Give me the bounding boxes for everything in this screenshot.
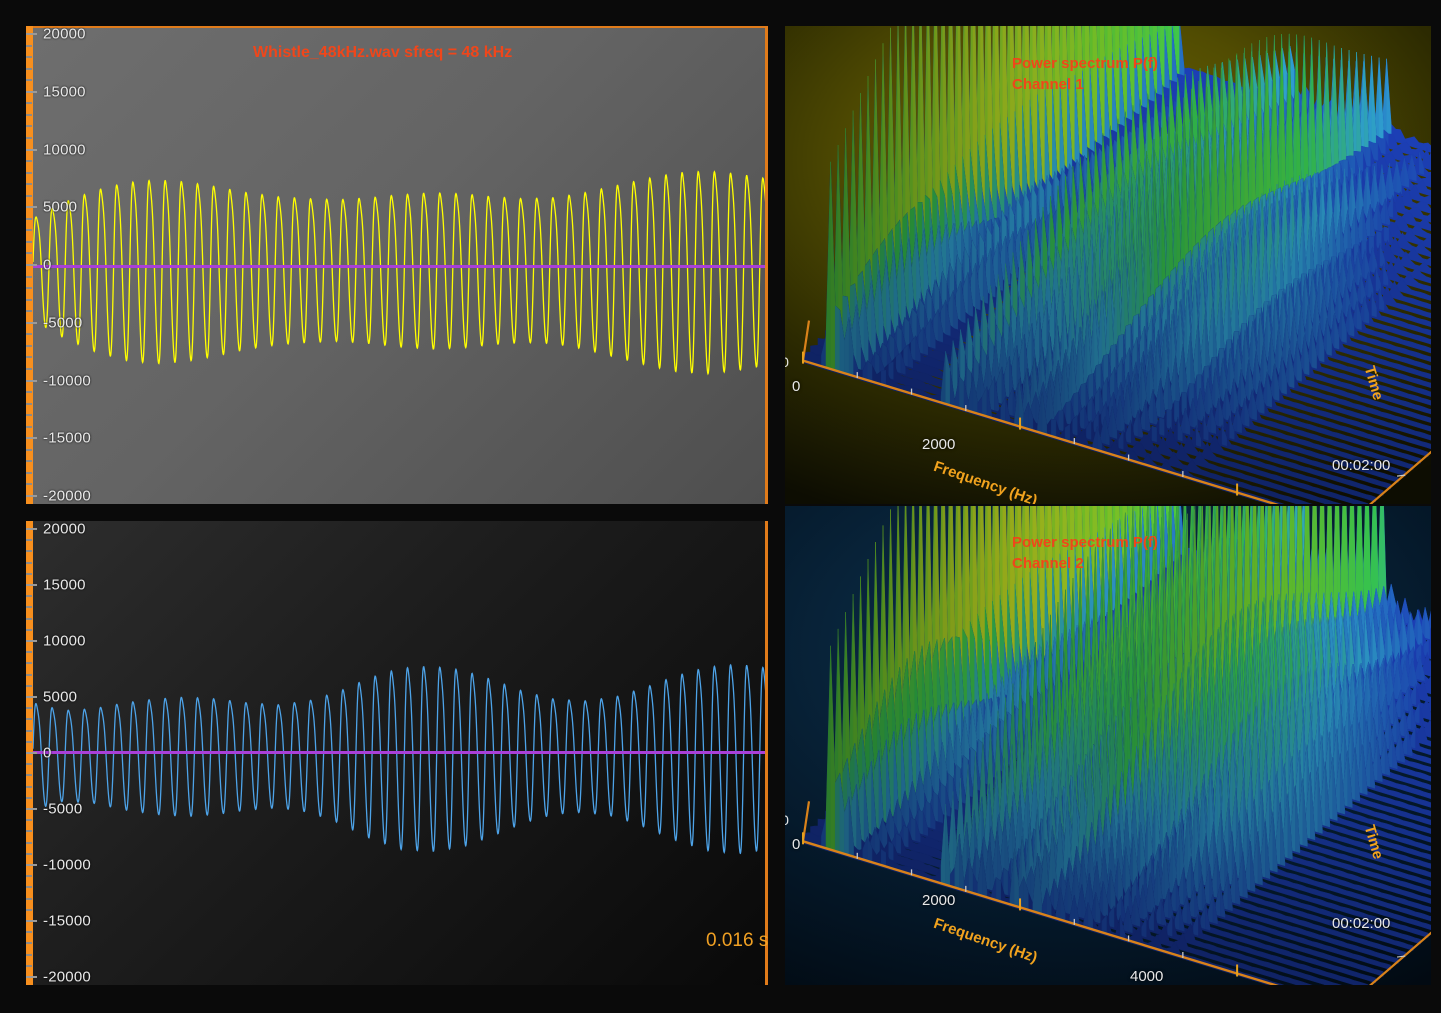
y-tick-minor	[26, 483, 32, 485]
y-tick-minor	[26, 662, 32, 664]
y-tick-minor	[26, 595, 32, 597]
spectrum-title-line2-channel-1: Channel 1	[1012, 74, 1158, 95]
x-tick-4000-channel-2: 4000	[1130, 968, 1163, 985]
y-tick-minor	[26, 763, 32, 765]
y-tick-minor	[26, 954, 32, 956]
y-tick-label: 15000	[43, 83, 86, 100]
y-tick-minor	[26, 137, 32, 139]
y-tick-minor	[26, 898, 32, 900]
y-tick-time-channel-2: 00:02:00	[1332, 915, 1390, 932]
y-tick-minor	[26, 287, 32, 289]
y-tick-minor	[26, 172, 32, 174]
y-tick-minor	[26, 333, 32, 335]
y-tick-label: -20000	[43, 488, 91, 505]
y-tick-minor	[26, 68, 32, 70]
x-tick-2000-channel-1: 2000	[922, 436, 955, 453]
y-tick-minor	[26, 707, 32, 709]
x-tick-0-channel-2: 0	[792, 836, 800, 853]
y-tick-label: 5000	[43, 689, 77, 706]
y-tick-minor	[26, 886, 32, 888]
y-tick-label: 10000	[43, 141, 86, 158]
y-tick-minor	[26, 125, 32, 127]
y-tick-minor	[26, 741, 32, 743]
y-tick-minor	[26, 403, 32, 405]
y-tick-minor	[26, 830, 32, 832]
spectrum-panel-channel-2[interactable]: Power spectrum P(f) Channel 2 +0 0 2000 …	[785, 506, 1431, 985]
y-tick-minor	[26, 195, 32, 197]
y-tick-minor	[26, 102, 32, 104]
waveform-title-channel-1: Whistle_48kHz.wav sfreq = 48 kHz	[253, 44, 512, 62]
y-tick-label: 10000	[43, 633, 86, 650]
y-tick-minor	[26, 345, 32, 347]
time-readout-channel-2: 0.016 s	[706, 930, 768, 952]
y-tick-minor	[26, 252, 32, 254]
y-tick-minor	[26, 310, 32, 312]
y-tick-minor	[26, 229, 32, 231]
y-tick-label: -10000	[43, 857, 91, 874]
spectrum-title-line1-channel-2: Power spectrum P(f)	[1012, 532, 1158, 553]
y-tick-minor	[26, 79, 32, 81]
y-tick-label: -5000	[43, 314, 82, 331]
y-tick-major	[26, 149, 37, 151]
y-tick-label: 20000	[43, 26, 86, 43]
spectrum-title-line1-channel-1: Power spectrum P(f)	[1012, 53, 1158, 74]
y-tick-minor	[26, 550, 32, 552]
y-tick-major	[26, 380, 37, 382]
y-tick-minor	[26, 651, 32, 653]
y-axis-ticks-channel-2: 20000150001000050000-5000-10000-15000-20…	[26, 521, 146, 985]
y-tick-major	[26, 696, 37, 698]
y-tick-label: 5000	[43, 199, 77, 216]
cursor-line-channel-1[interactable]	[765, 28, 768, 504]
y-tick-minor	[26, 218, 32, 220]
y-tick-minor	[26, 391, 32, 393]
y-tick-time-channel-1: 00:02:00	[1332, 457, 1390, 474]
spectrum-panel-channel-1[interactable]: Power spectrum P(f) Channel 1 +0 0 2000 …	[785, 26, 1431, 504]
y-tick-label: 0	[43, 745, 52, 762]
y-tick-major	[26, 976, 37, 978]
y-tick-minor	[26, 819, 32, 821]
y-tick-minor	[26, 909, 32, 911]
spectrum-title-channel-1: Power spectrum P(f) Channel 1	[1012, 53, 1158, 96]
y-tick-label: -5000	[43, 801, 82, 818]
y-tick-minor	[26, 606, 32, 608]
y-tick-minor	[26, 718, 32, 720]
y-tick-major	[26, 322, 37, 324]
z-axis-label-channel-1: +0	[785, 354, 789, 370]
y-tick-minor	[26, 875, 32, 877]
y-tick-label: -15000	[43, 913, 91, 930]
x-tick-2000-channel-2: 2000	[922, 892, 955, 909]
y-tick-major	[26, 495, 37, 497]
y-tick-minor	[26, 842, 32, 844]
y-tick-minor	[26, 160, 32, 162]
spectrum-surface-channel-2[interactable]	[785, 506, 1431, 985]
y-tick-minor	[26, 276, 32, 278]
y-axis-ticks-channel-1: 20000150001000050000-5000-10000-15000-20…	[26, 26, 146, 504]
y-tick-minor	[26, 853, 32, 855]
y-tick-major	[26, 206, 37, 208]
y-tick-major	[26, 91, 37, 93]
y-tick-minor	[26, 114, 32, 116]
y-tick-minor	[26, 730, 32, 732]
y-tick-minor	[26, 414, 32, 416]
y-tick-minor	[26, 45, 32, 47]
y-tick-major	[26, 437, 37, 439]
y-tick-major	[26, 584, 37, 586]
y-tick-minor	[26, 183, 32, 185]
y-tick-label: 20000	[43, 521, 86, 538]
y-tick-minor	[26, 241, 32, 243]
y-tick-minor	[26, 685, 32, 687]
y-tick-minor	[26, 299, 32, 301]
y-tick-minor	[26, 426, 32, 428]
y-tick-label: -10000	[43, 372, 91, 389]
y-tick-major	[26, 920, 37, 922]
y-tick-major	[26, 640, 37, 642]
y-tick-major	[26, 808, 37, 810]
y-tick-minor	[26, 618, 32, 620]
y-tick-major	[26, 528, 37, 530]
y-tick-major	[26, 752, 37, 754]
spectrum-title-channel-2: Power spectrum P(f) Channel 2	[1012, 532, 1158, 575]
y-tick-major	[26, 864, 37, 866]
y-tick-major	[26, 264, 37, 266]
y-tick-minor	[26, 573, 32, 575]
y-tick-minor	[26, 786, 32, 788]
cursor-line-channel-2[interactable]	[765, 521, 768, 985]
z-axis-label-channel-2: +0	[785, 812, 789, 828]
y-tick-label: 15000	[43, 577, 86, 594]
y-tick-label: 0	[43, 257, 52, 274]
y-tick-minor	[26, 368, 32, 370]
x-tick-0-channel-1: 0	[792, 378, 800, 395]
y-tick-minor	[26, 449, 32, 451]
y-tick-minor	[26, 774, 32, 776]
y-tick-minor	[26, 356, 32, 358]
y-tick-label: -15000	[43, 430, 91, 447]
y-tick-minor	[26, 797, 32, 799]
y-tick-minor	[26, 942, 32, 944]
spectrogram-application-window: Whistle_48kHz.wav sfreq = 48 kHz 2000015…	[0, 0, 1441, 1013]
spectrum-surface-channel-1[interactable]	[785, 26, 1431, 504]
y-tick-minor	[26, 460, 32, 462]
y-tick-minor	[26, 965, 32, 967]
y-tick-minor	[26, 562, 32, 564]
y-tick-minor	[26, 674, 32, 676]
y-tick-minor	[26, 56, 32, 58]
y-tick-minor	[26, 629, 32, 631]
y-tick-label: -20000	[43, 969, 91, 986]
y-tick-minor	[26, 931, 32, 933]
y-tick-minor	[26, 539, 32, 541]
y-tick-major	[26, 33, 37, 35]
y-tick-minor	[26, 472, 32, 474]
spectrum-title-line2-channel-2: Channel 2	[1012, 553, 1158, 574]
